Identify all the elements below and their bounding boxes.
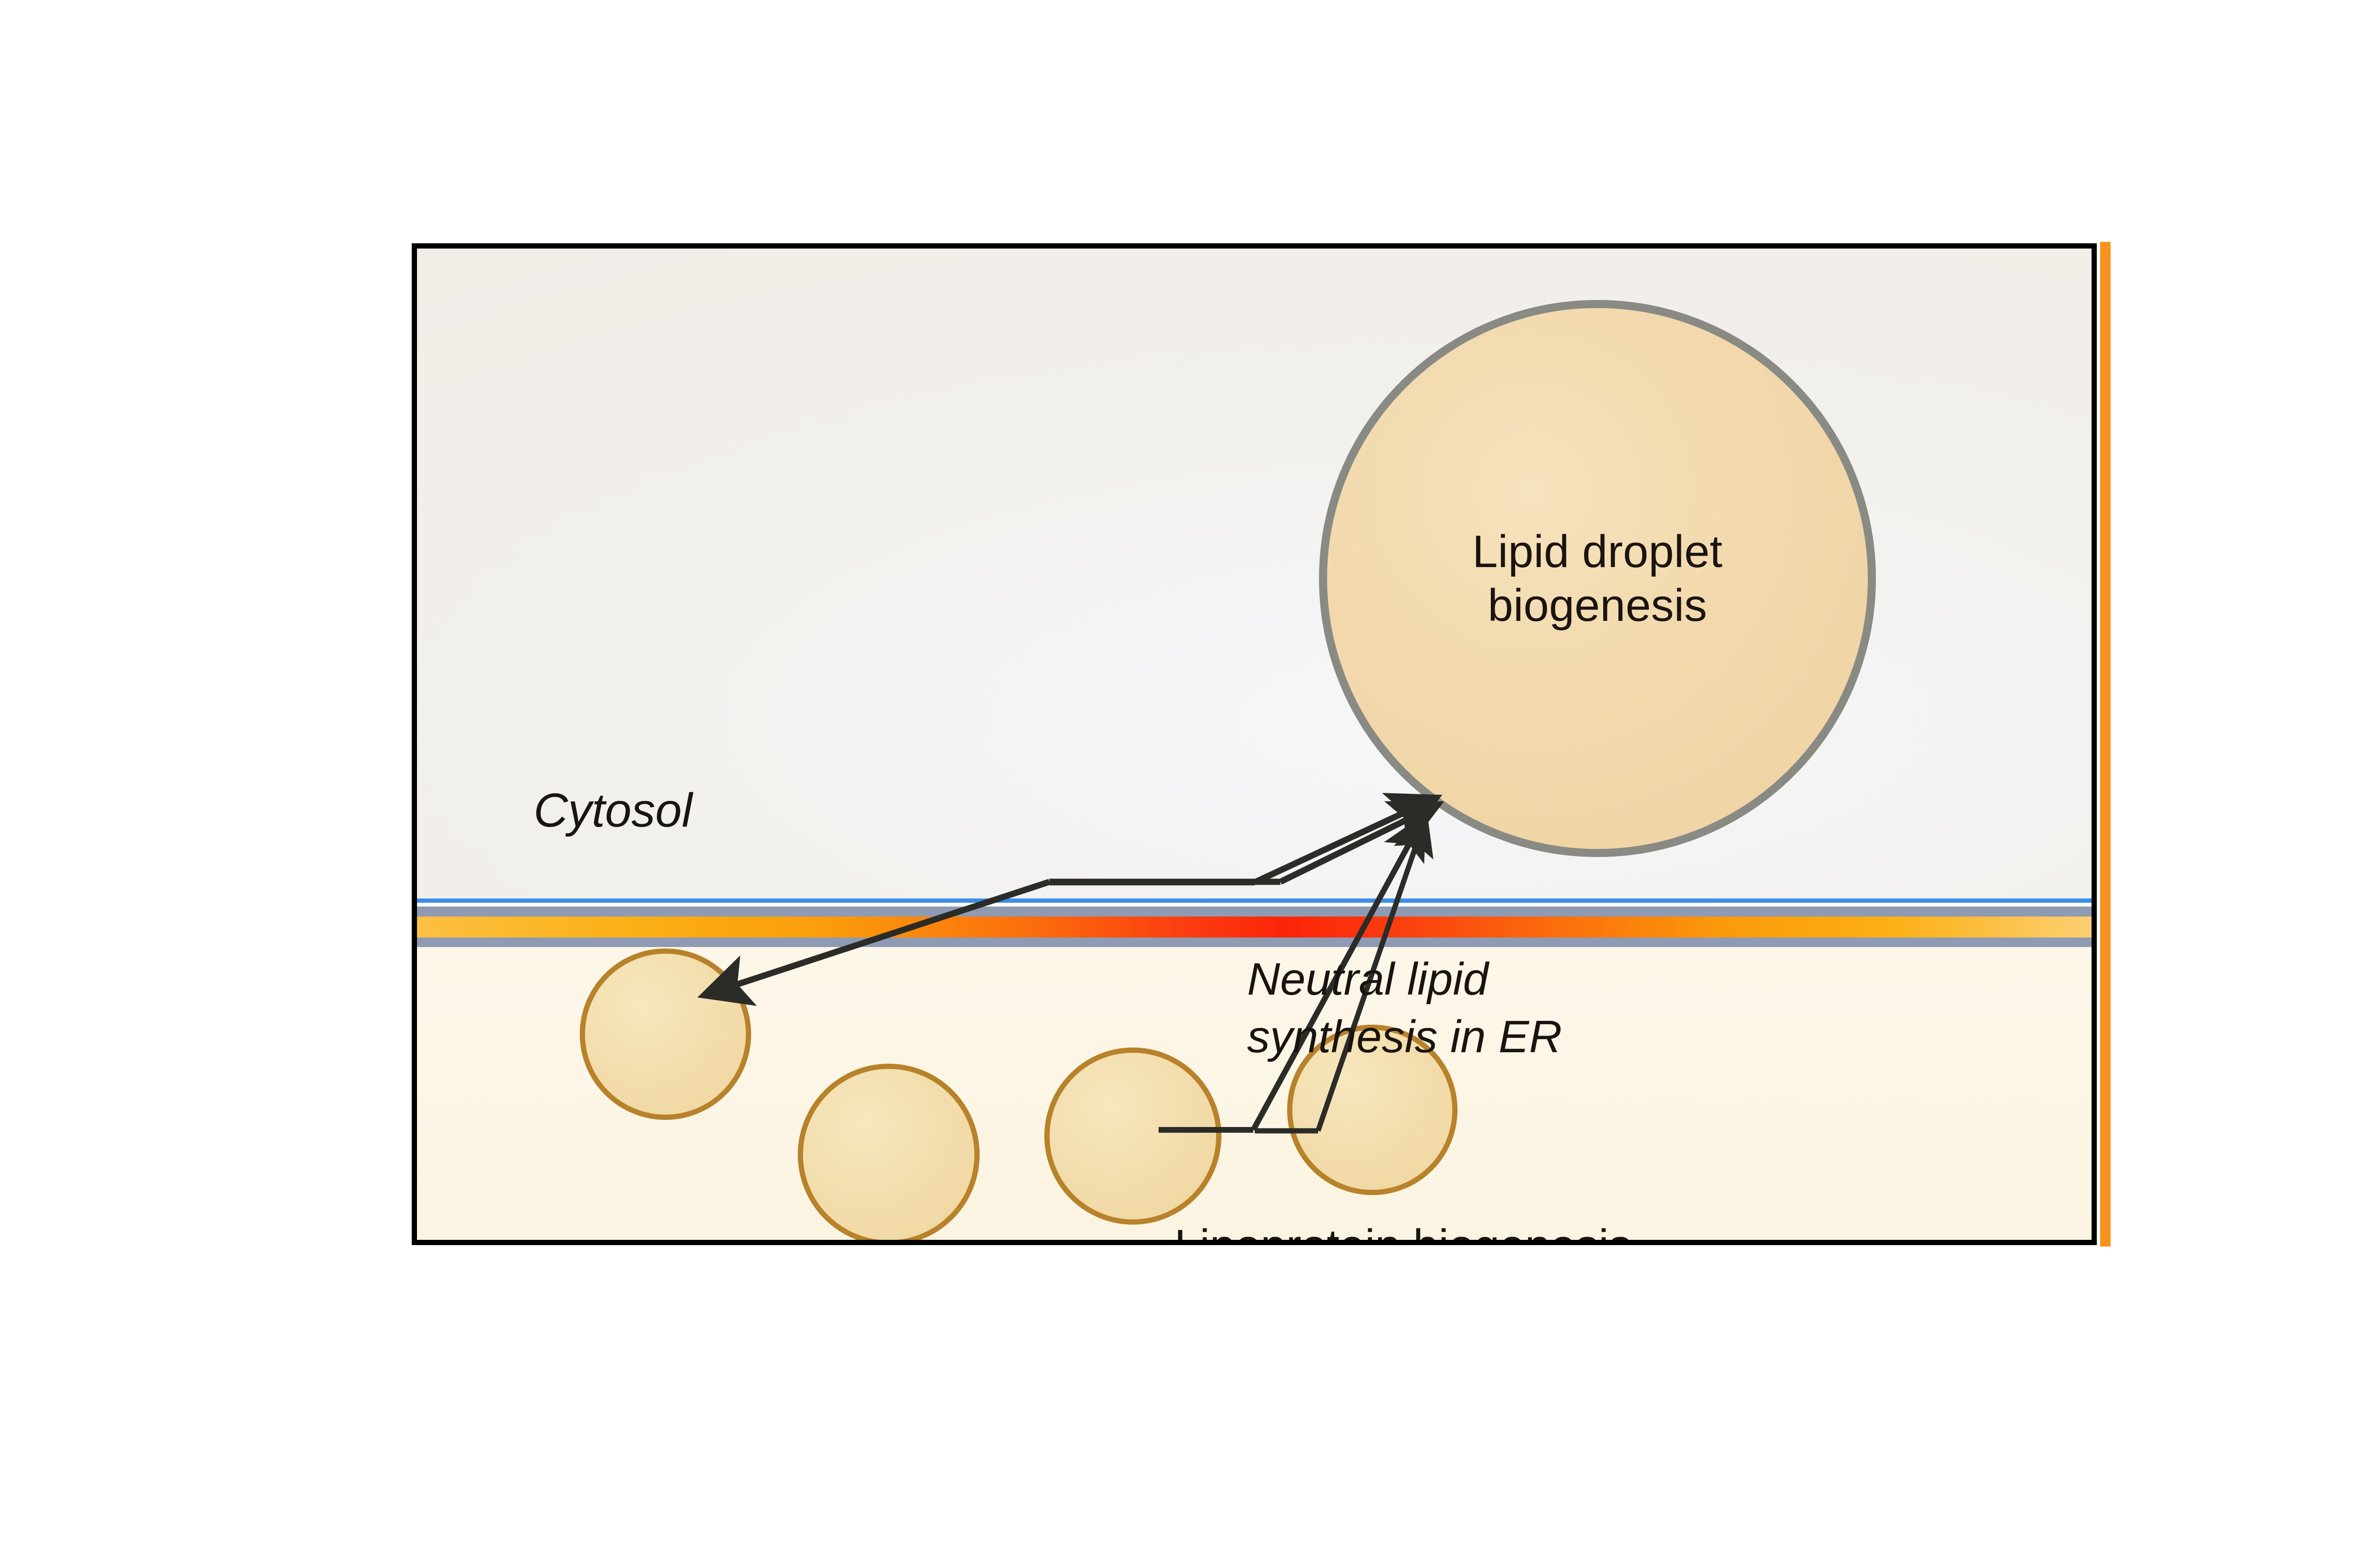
- lipoprotein-biogenesis-label: Lipoprotein biogenesis: [1174, 1220, 1632, 1245]
- lipid-droplet: Lipid droplet biogenesis: [1319, 300, 1876, 857]
- membrane-neutral-lipid-core: [417, 917, 2092, 938]
- diagram-frame: Lipid droplet biogenesis: [412, 243, 2097, 1245]
- lipid-droplet-label: Lipid droplet biogenesis: [1472, 525, 1723, 633]
- lipoprotein-particle: [798, 1064, 980, 1245]
- neutral-lipid-synthesis-label: Neutral lipid synthesis in ER: [1247, 951, 1562, 1066]
- membrane-cytosolic-leaflet-line: [417, 898, 2092, 903]
- lipoprotein-particle: [1044, 1047, 1221, 1225]
- membrane-upper-gray-leaflet: [417, 907, 2092, 917]
- membrane-lower-gray-leaflet: [417, 938, 2092, 947]
- membrane-white-gap: [417, 903, 2092, 907]
- cytosol-label: Cytosol: [534, 783, 692, 838]
- right-accent-strip: [2100, 242, 2111, 1247]
- lipoprotein-particle: [580, 948, 751, 1120]
- er-membrane: [417, 898, 2092, 946]
